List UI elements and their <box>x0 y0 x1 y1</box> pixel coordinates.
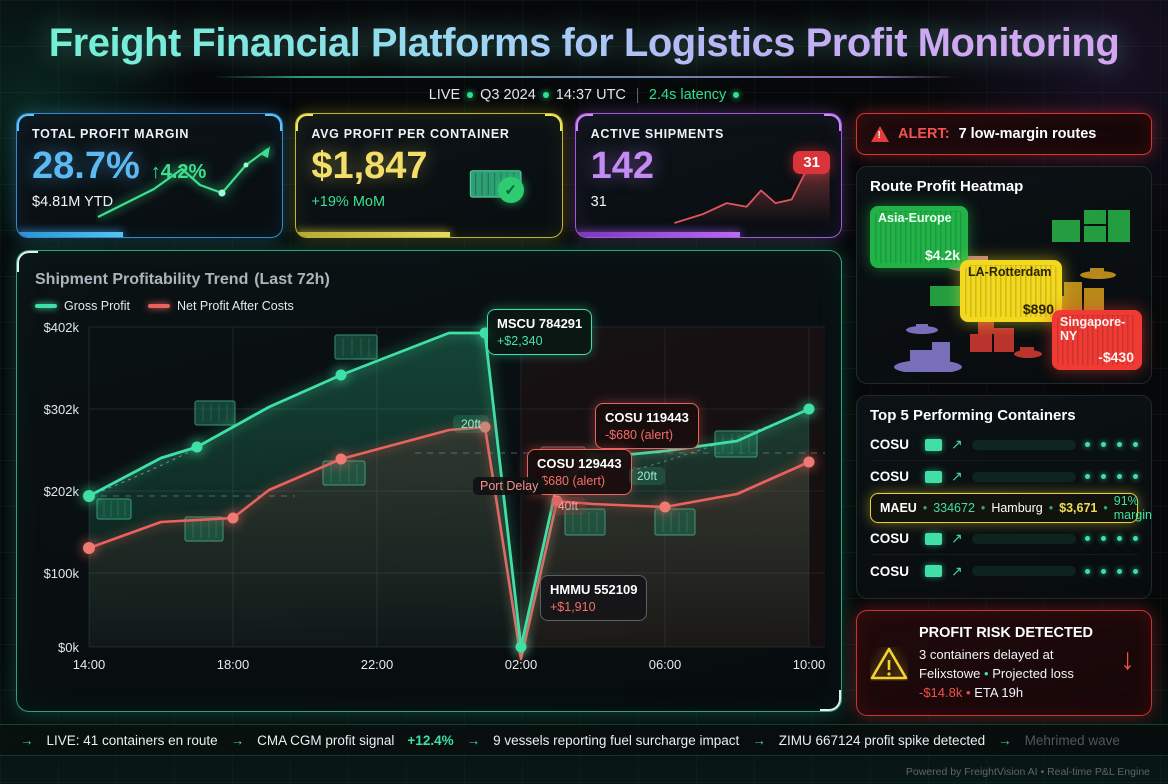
chart-legend: Gross Profit Net Profit After Costs <box>35 299 823 313</box>
status-bar: LIVE Q3 2024 14:37 UTC 2.4s latency <box>0 87 1168 103</box>
risk-port: Felixstowe <box>919 666 980 681</box>
top-containers-title: Top 5 Performing Containers <box>870 407 1138 424</box>
size-badge-40ft: 40ft <box>550 497 586 515</box>
warning-triangle-icon <box>871 126 889 142</box>
container-port: Hamburg <box>991 501 1042 515</box>
heatmap-tile-value: $890 <box>1023 301 1054 317</box>
corner-accent <box>265 113 283 131</box>
heatmap-tile-name: Singapore-NY <box>1060 315 1134 343</box>
shipment-profitability-chart-panel: Shipment Profitability Trend (Last 72h) … <box>16 250 842 712</box>
heatmap-tile-la-rotterdam[interactable]: LA-Rotterdam $890 <box>960 260 1062 322</box>
alert-prefix: ALERT: <box>898 126 950 142</box>
status-divider <box>637 88 638 103</box>
rating-pips <box>1085 569 1138 574</box>
svg-text:14:00: 14:00 <box>73 657 106 671</box>
bullet-separator-icon: • <box>923 501 927 515</box>
kpi-progress-bar <box>576 232 841 237</box>
svg-text:22:00: 22:00 <box>361 657 394 671</box>
route-profit-heatmap-card: Route Profit Heatmap <box>856 166 1152 384</box>
corner-accent <box>575 113 593 131</box>
kpi-card-active-shipments[interactable]: ACTIVE SHIPMENTS 142 31 31 <box>575 113 842 238</box>
ticker-item[interactable]: 9 vessels reporting fuel surcharge impac… <box>493 733 739 748</box>
corner-accent <box>295 113 313 131</box>
container-code: COSU <box>870 437 916 452</box>
legend-item-net-profit[interactable]: Net Profit After Costs <box>148 299 294 313</box>
status-dot-icon <box>733 92 739 98</box>
svg-text:10:00: 10:00 <box>793 657 825 671</box>
tooltip-value: +$1,910 <box>550 600 596 614</box>
bullet-separator-icon: • <box>1103 501 1107 515</box>
alert-banner[interactable]: ALERT: 7 low-margin routes <box>856 113 1152 155</box>
list-item[interactable]: COSU ↗ <box>870 523 1138 555</box>
svg-text:$302k: $302k <box>44 402 80 417</box>
bullet-separator-icon: • <box>981 501 985 515</box>
svg-text:$0k: $0k <box>58 640 79 655</box>
ticker-arrow-icon: → <box>998 733 1012 748</box>
svg-text:$100k: $100k <box>44 566 80 581</box>
chart-title: Shipment Profitability Trend (Last 72h) <box>35 266 823 290</box>
svg-text:$202k: $202k <box>44 484 80 499</box>
risk-title: PROFIT RISK DETECTED <box>919 623 1093 644</box>
rating-pips <box>1085 474 1138 479</box>
corner-accent <box>16 113 34 131</box>
kpi-label: ACTIVE SHIPMENTS <box>591 127 826 141</box>
tooltip-value: -$680 (alert) <box>537 474 605 488</box>
list-item[interactable]: COSU ↗ <box>870 555 1138 587</box>
tooltip-code: COSU 119443 <box>605 409 689 427</box>
tooltip-value: -$680 (alert) <box>605 428 673 442</box>
container-icon <box>925 439 942 451</box>
kpi-label: AVG PROFIT PER CONTAINER <box>311 127 546 141</box>
kpi-subtext: $4.81M YTD <box>32 194 267 210</box>
ticker-arrow-icon: → <box>20 733 34 748</box>
kpi-delta: ↑4.2% <box>151 161 207 184</box>
trend-up-icon: ↗ <box>951 468 963 485</box>
heatmap-tile-asia-europe[interactable]: Asia-Europe $4.2k <box>870 206 968 268</box>
side-column: ALERT: 7 low-margin routes Route Profit … <box>856 113 1152 716</box>
container-icon <box>925 565 942 577</box>
kpi-value: $1,847 <box>311 147 427 185</box>
status-dot-icon <box>543 92 549 98</box>
ticker-accent: +12.4% <box>407 733 453 748</box>
main-column: TOTAL PROFIT MARGIN 28.7% ↑4.2% $4.81M Y… <box>16 113 842 716</box>
kpi-subtext: 31 <box>591 194 826 210</box>
heatmap-tile-value: -$430 <box>1098 349 1134 365</box>
kpi-progress-bar <box>296 232 561 237</box>
kpi-label: TOTAL PROFIT MARGIN <box>32 127 267 141</box>
performance-meter-track <box>972 440 1076 450</box>
legend-swatch-icon <box>35 304 57 308</box>
dashboard-header: Freight Financial Platforms for Logistic… <box>0 0 1168 103</box>
footer-credit: Powered by FreightVision AI • Real-time … <box>906 766 1150 778</box>
list-item[interactable]: COSU ↗ <box>870 461 1138 493</box>
top-containers-card: Top 5 Performing Containers COSU ↗ COSU … <box>856 395 1152 599</box>
bullet-separator-icon: • <box>984 666 989 681</box>
quarter-label: Q3 2024 <box>480 87 536 103</box>
legend-swatch-icon <box>148 304 170 308</box>
live-status-label: LIVE <box>429 87 460 103</box>
chart-svg: $402k $302k $202k $100k $0k 14:00 18:00 … <box>35 319 825 671</box>
legend-label: Net Profit After Costs <box>177 299 294 313</box>
kpi-card-avg-profit-per-container[interactable]: AVG PROFIT PER CONTAINER $1,847 +19% MoM… <box>295 113 562 238</box>
check-icon: ✓ <box>498 177 524 203</box>
chart-title-suffix: (Last 72h) <box>254 271 330 288</box>
risk-eta: ETA 19h <box>974 685 1023 700</box>
ticker-arrow-icon: → <box>231 733 245 748</box>
container-id: 334672 <box>933 501 975 515</box>
container-code: COSU <box>870 531 916 546</box>
ticker-item[interactable]: Mehrimed wave <box>1025 733 1120 748</box>
chart-tooltip-hmmu[interactable]: HMMU 552109 +$1,910 <box>540 575 647 621</box>
container-code: COSU <box>870 564 916 579</box>
corner-accent <box>545 113 563 131</box>
heatmap-title: Route Profit Heatmap <box>870 178 1138 195</box>
news-ticker: → LIVE: 41 containers en route → CMA CGM… <box>0 724 1168 756</box>
heatmap-tile-name: Asia-Europe <box>878 211 960 225</box>
list-item-highlighted[interactable]: MAEU • 334672 • Hamburg • $3,671 • 91% m… <box>870 493 1138 523</box>
alert-text: 7 low-margin routes <box>959 126 1097 142</box>
arrow-down-icon: ↓ <box>1120 645 1135 675</box>
status-dot-icon <box>467 92 473 98</box>
page-title: Freight Financial Platforms for Logistic… <box>0 20 1168 66</box>
tooltip-value: +$2,340 <box>497 334 543 348</box>
heatmap-tile-value: $4.2k <box>925 247 960 263</box>
risk-text: PROFIT RISK DETECTED 3 containers delaye… <box>919 623 1093 703</box>
warning-triangle-icon <box>870 647 908 680</box>
bullet-separator-icon: • <box>966 685 971 700</box>
chart-plot-area: $402k $302k $202k $100k $0k 14:00 18:00 … <box>35 319 823 674</box>
chart-title-main: Shipment Profitability Trend <box>35 271 248 288</box>
ticker-arrow-icon: → <box>752 733 766 748</box>
svg-text:06:00: 06:00 <box>649 657 682 671</box>
ticker-item[interactable]: CMA CGM profit signal <box>257 733 394 748</box>
chart-tooltip-cosu-119443[interactable]: COSU 119443 -$680 (alert) <box>595 403 699 449</box>
performance-meter-track <box>972 472 1076 482</box>
title-divider <box>212 76 957 78</box>
bullet-separator-icon: • <box>1049 501 1053 515</box>
clock-label: 14:37 UTC <box>556 87 626 103</box>
kpi-row: TOTAL PROFIT MARGIN 28.7% ↑4.2% $4.81M Y… <box>16 113 842 238</box>
tooltip-code: HMMU 552109 <box>550 581 637 599</box>
size-badge-20ft: 20ft <box>453 415 489 433</box>
latency-label: 2.4s latency <box>649 87 726 103</box>
legend-label: Gross Profit <box>64 299 130 313</box>
ticker-item[interactable]: ZIMU 667124 profit spike detected <box>779 733 985 748</box>
container-icon <box>925 471 942 483</box>
risk-loss: -$14.8k <box>919 685 962 700</box>
kpi-value: 28.7% <box>32 147 140 185</box>
list-item[interactable]: COSU ↗ <box>870 429 1138 461</box>
risk-line-2: Projected loss <box>992 666 1074 681</box>
performance-meter-track <box>972 534 1076 544</box>
tooltip-code: MSCU 784291 <box>497 315 582 333</box>
rating-pips <box>1085 536 1138 541</box>
chart-event-label-port-delay: Port Delay <box>473 477 545 495</box>
container-icon <box>925 533 942 545</box>
heatmap-tile-singapore-ny[interactable]: Singapore-NY -$430 <box>1052 310 1142 370</box>
ticker-arrow-icon: → <box>467 733 481 748</box>
rating-pips <box>1085 442 1138 447</box>
kpi-value: 142 <box>591 147 654 185</box>
kpi-card-total-profit-margin[interactable]: TOTAL PROFIT MARGIN 28.7% ↑4.2% $4.81M Y… <box>16 113 283 238</box>
svg-text:18:00: 18:00 <box>217 657 250 671</box>
size-badge-20ft: 20ft <box>629 467 665 485</box>
kpi-progress-bar <box>17 232 282 237</box>
svg-text:$402k: $402k <box>44 320 80 335</box>
legend-item-gross-profit[interactable]: Gross Profit <box>35 299 130 313</box>
container-code: MAEU <box>880 501 917 515</box>
status-badge: 31 <box>793 151 830 174</box>
top-containers-list: COSU ↗ COSU ↗ MAEU • 334672 <box>870 429 1138 587</box>
trend-up-icon: ↗ <box>951 436 963 453</box>
trend-up-icon: ↗ <box>951 530 963 547</box>
container-code: COSU <box>870 469 916 484</box>
trend-up-icon: ↗ <box>951 563 963 580</box>
performance-meter-track <box>972 566 1076 576</box>
container-margin: 91% margin <box>1114 494 1152 522</box>
heatmap-tile-name: LA-Rotterdam <box>968 265 1054 279</box>
tooltip-code: COSU 129443 <box>537 455 622 473</box>
corner-accent <box>824 113 842 131</box>
heatmap-body: Asia-Europe $4.2k LA-Rotterdam $890 Sing… <box>870 202 1138 372</box>
corner-accent <box>820 690 842 712</box>
corner-accent <box>16 250 38 272</box>
profit-risk-card[interactable]: PROFIT RISK DETECTED 3 containers delaye… <box>856 610 1152 716</box>
container-amount: $3,671 <box>1059 501 1097 515</box>
chart-tooltip-mscu[interactable]: MSCU 784291 +$2,340 <box>487 309 592 355</box>
risk-line-1: 3 containers delayed at <box>919 647 1053 662</box>
ticker-item[interactable]: LIVE: 41 containers en route <box>47 733 218 748</box>
